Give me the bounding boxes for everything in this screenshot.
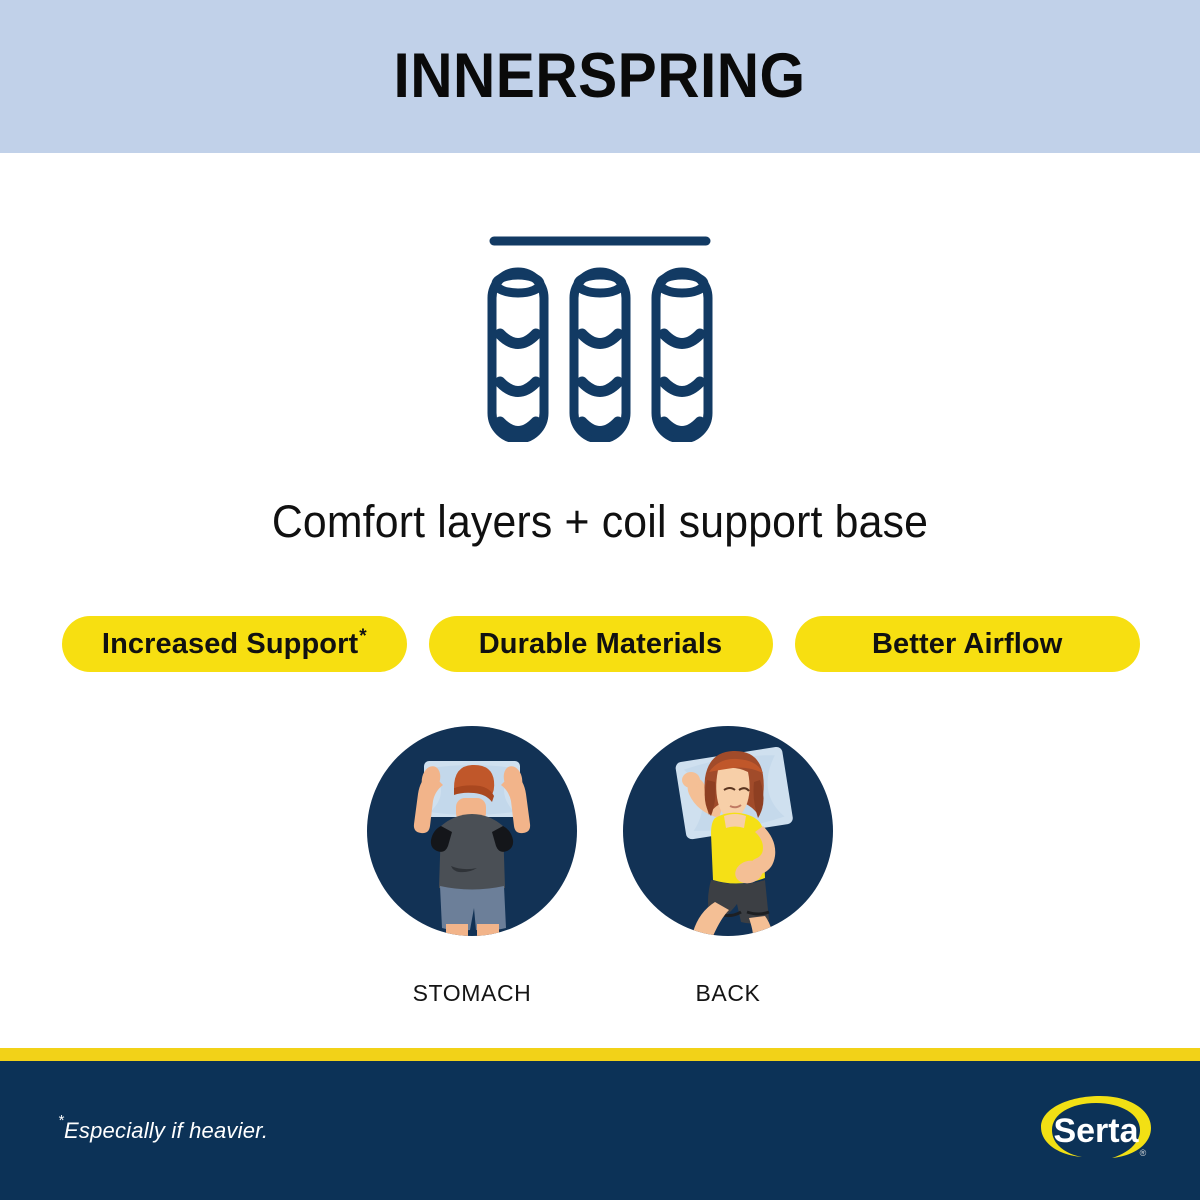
footnote-marker: *	[58, 1112, 64, 1129]
header-band: INNERSPRING	[0, 0, 1200, 153]
sleep-position-back[interactable]: BACK	[623, 726, 833, 1016]
shirt	[431, 814, 513, 892]
serta-logo-mark: Serta ®	[1038, 1086, 1158, 1176]
benefit-pill-label: Increased Support	[102, 628, 358, 661]
coil-1	[492, 272, 544, 439]
stomach-sleeper-illustration	[367, 726, 577, 936]
benefit-pill-increased-support[interactable]: Increased Support*	[62, 616, 407, 672]
sleep-position-stomach[interactable]: STOMACH	[367, 726, 577, 1016]
serta-wordmark: Serta	[1053, 1112, 1139, 1150]
sleep-positions-row: STOMACH	[0, 726, 1200, 1016]
footnote-body: Especially if heavier.	[64, 1118, 268, 1143]
sleep-position-label: STOMACH	[413, 980, 532, 1007]
back-sleeper-circle	[623, 726, 833, 936]
benefit-pill-durable-materials[interactable]: Durable Materials	[429, 616, 774, 672]
subtitle-text: Comfort layers + coil support base	[30, 496, 1170, 548]
footnote-text: *Especially if heavier.	[58, 1118, 268, 1144]
coil-stack-icon	[480, 222, 720, 442]
shorts	[440, 886, 506, 931]
infographic-page: INNERSPRING	[0, 0, 1200, 1200]
coil-3	[656, 272, 708, 439]
back-sleeper-illustration	[623, 726, 833, 936]
legs	[446, 924, 499, 936]
serta-logo[interactable]: Serta ®	[1038, 1086, 1158, 1176]
stomach-sleeper-circle	[367, 726, 577, 936]
sleep-position-label: BACK	[695, 980, 760, 1007]
coil-2	[574, 272, 626, 439]
benefit-pill-label: Durable Materials	[479, 628, 722, 661]
benefits-row: Increased Support* Durable Materials Bet…	[62, 616, 1140, 672]
benefit-pill-label: Better Airflow	[872, 628, 1062, 661]
registered-mark: ®	[1140, 1148, 1147, 1158]
footer-accent-rule	[0, 1048, 1200, 1061]
benefit-pill-better-airflow[interactable]: Better Airflow	[795, 616, 1140, 672]
coil-icon-container	[0, 222, 1200, 452]
page-title: INNERSPRING	[394, 45, 806, 108]
